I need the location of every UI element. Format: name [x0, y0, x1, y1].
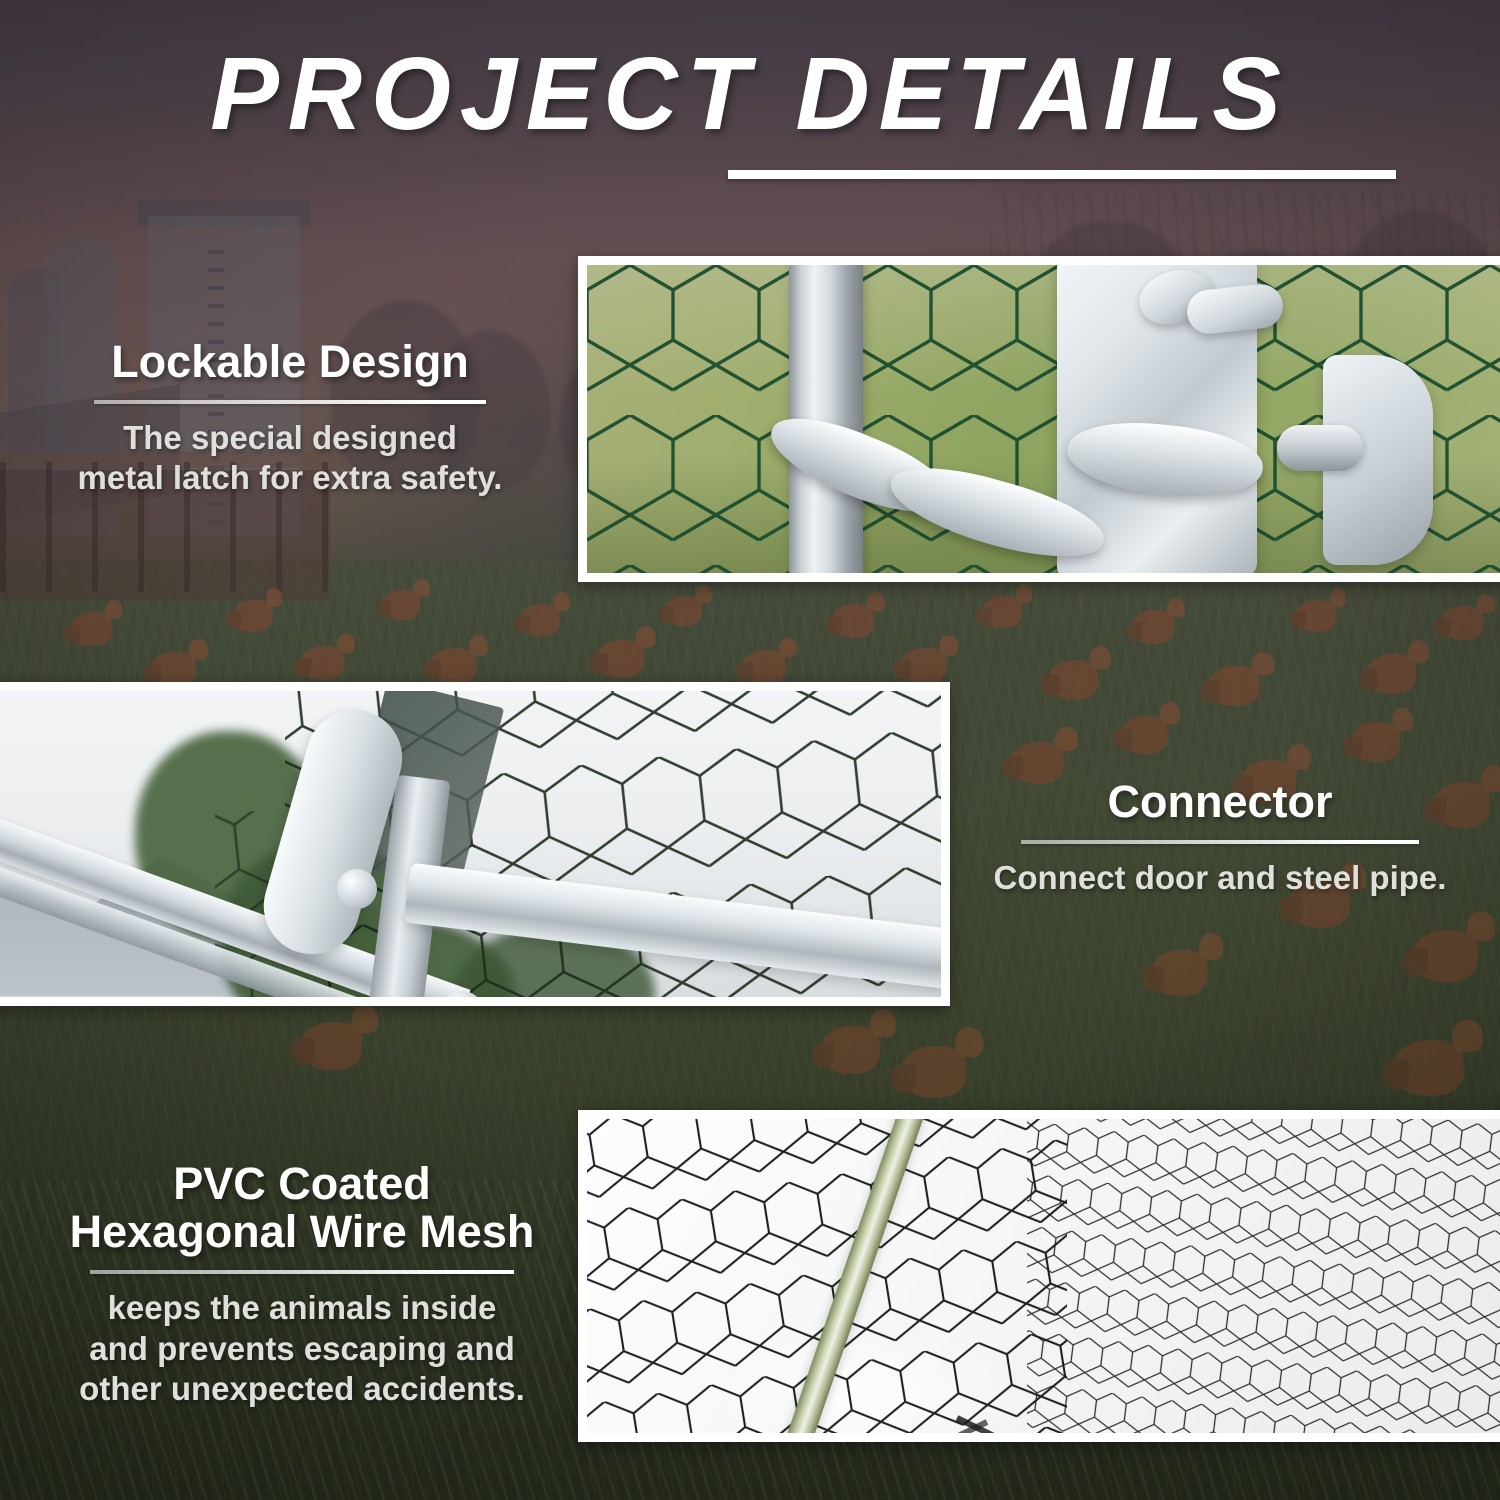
photo-panel-lockable-design: [578, 256, 1500, 582]
latch-scene: [587, 265, 1500, 573]
photo-panel-wire-mesh: [578, 1110, 1500, 1442]
title-underline: [728, 170, 1396, 179]
feature-block-lockable-design: Lockable Design The special designed met…: [40, 338, 540, 499]
feature-divider: [90, 1270, 514, 1274]
project-details-poster: PROJECT DETAILS: [0, 0, 1500, 1500]
connector-scene: [0, 691, 941, 997]
feature-heading-connector: Connector: [950, 778, 1490, 826]
poster-title-container: PROJECT DETAILS: [0, 42, 1500, 145]
feature-body-pvc: keeps the animals inside and prevents es…: [22, 1288, 582, 1409]
feature-heading-pvc-line-1: PVC Coated: [22, 1160, 582, 1208]
photo-lockable-design: [587, 265, 1500, 573]
hexagonal-wire-mesh: [587, 1119, 1500, 1433]
feature-heading-pvc-line-2: Hexagonal Wire Mesh: [22, 1208, 582, 1256]
page-title: PROJECT DETAILS: [210, 42, 1289, 145]
feature-block-connector: Connector Connect door and steel pipe.: [950, 778, 1490, 898]
feature-body-connector: Connect door and steel pipe.: [950, 858, 1490, 898]
feature-heading-lockable-design: Lockable Design: [40, 338, 540, 386]
feature-block-pvc-coated-hexagonal-wire-mesh: PVC Coated Hexagonal Wire Mesh keeps the…: [22, 1160, 582, 1409]
photo-panel-connector: [0, 682, 950, 1006]
feature-body-lockable-design: The special designed metal latch for ext…: [40, 418, 540, 499]
wire-mesh-scene: [587, 1119, 1500, 1433]
photo-connector: [0, 691, 941, 997]
photo-hexagonal-wire-mesh: [587, 1119, 1500, 1433]
feature-divider: [94, 400, 486, 404]
rivet: [337, 869, 377, 909]
latch-bolt: [1277, 425, 1363, 471]
feature-divider: [1021, 840, 1419, 844]
